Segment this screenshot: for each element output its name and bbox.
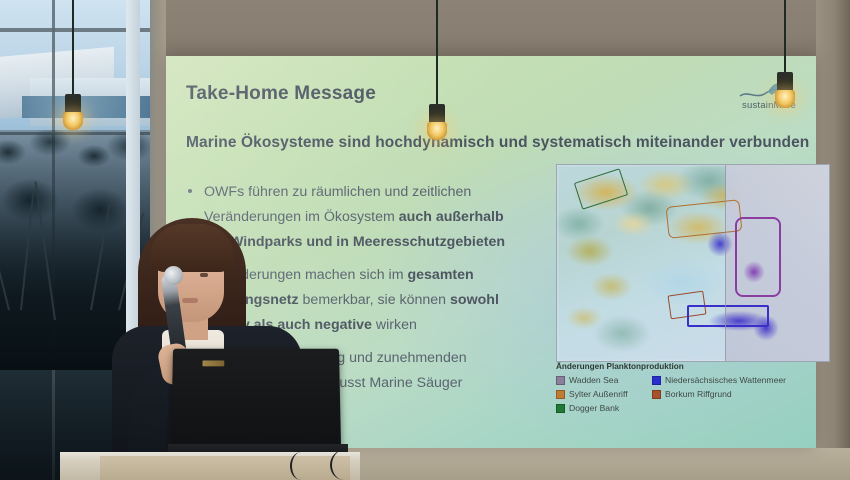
legend-swatch-icon — [556, 376, 565, 385]
legend-item-wadden-sea: Wadden Sea — [556, 375, 652, 385]
legend-item-dogger-bank: Dogger Bank — [556, 403, 652, 413]
pendant-lamp-center — [424, 0, 450, 158]
lamp-bulb-icon — [427, 122, 447, 140]
presenter-mouth — [182, 298, 198, 303]
lectern-cloth — [100, 456, 350, 480]
windfarm-cluster-4 — [753, 315, 779, 341]
slide-title: Take-Home Message — [186, 83, 376, 105]
laptop-logo — [202, 360, 224, 366]
lamp-cord — [72, 0, 74, 96]
legend-label: Sylter Außenriff — [569, 389, 628, 399]
laptop-lid[interactable] — [171, 349, 341, 449]
legend-swatch-icon — [652, 390, 661, 399]
legend-swatch-icon — [556, 404, 565, 413]
legend-item-borkum-riffgrund: Borkum Riffgrund — [652, 389, 828, 399]
legend-items: Wadden Sea Niedersächsisches Wattenmeer … — [556, 375, 828, 417]
bullet-2-line-2-bold-b: sowohl — [450, 292, 499, 308]
legend-swatch-icon — [652, 376, 661, 385]
plankton-production-map — [556, 164, 830, 362]
windfarm-cluster-1 — [707, 231, 733, 257]
presentation-photo: Take-Home Message Marine Ökosysteme sind… — [0, 0, 850, 480]
legend-swatch-icon — [556, 390, 565, 399]
legend-title: Änderungen Planktonproduktion — [556, 362, 828, 371]
legend-item-sylter-aussenriff: Sylter Außenriff — [556, 389, 652, 399]
map-coastline — [725, 165, 726, 361]
map-area-wadden-sea — [735, 217, 781, 297]
windfarm-cluster-2 — [743, 261, 765, 283]
legend-label: Wadden Sea — [569, 375, 618, 385]
bullet-dot-icon — [188, 189, 192, 193]
legend-item-niedersaechsisches-wattenmeer: Niedersächsisches Wattenmeer — [652, 375, 828, 385]
lamp-bulb-icon — [63, 112, 83, 130]
legend-label: Borkum Riffgrund — [665, 389, 732, 399]
presenter-hair-front — [150, 224, 234, 272]
map-legend: Änderungen Planktonproduktion Wadden Sea… — [556, 362, 828, 417]
lamp-cord — [436, 0, 438, 106]
slide-headline: Marine Ökosysteme sind hochdynamisch und… — [186, 134, 809, 152]
pendant-lamp-left — [60, 0, 86, 140]
pendant-lamp-right — [772, 0, 798, 126]
bullet-2-line-2: bemerkbar, sie können — [299, 292, 450, 308]
legend-label: Dogger Bank — [569, 403, 619, 413]
lamp-cap — [429, 104, 445, 124]
lamp-cap — [65, 94, 81, 114]
bullet-1-line-2-bold: auch außerhalb — [399, 209, 504, 225]
bullet-2-line-1-bold: gesamten — [407, 267, 473, 283]
legend-label: Niedersächsisches Wattenmeer — [665, 375, 786, 385]
lamp-cord — [784, 0, 786, 74]
cable-1 — [290, 452, 312, 480]
bullet-2-line-3: wirken — [372, 317, 417, 333]
lower-wall — [330, 448, 850, 480]
lamp-cap — [777, 72, 793, 92]
bullet-1-line-1: OWFs führen zu räumlichen und zeitlichen — [204, 184, 471, 200]
lamp-bulb-icon — [775, 90, 795, 108]
cable-2 — [330, 450, 358, 480]
